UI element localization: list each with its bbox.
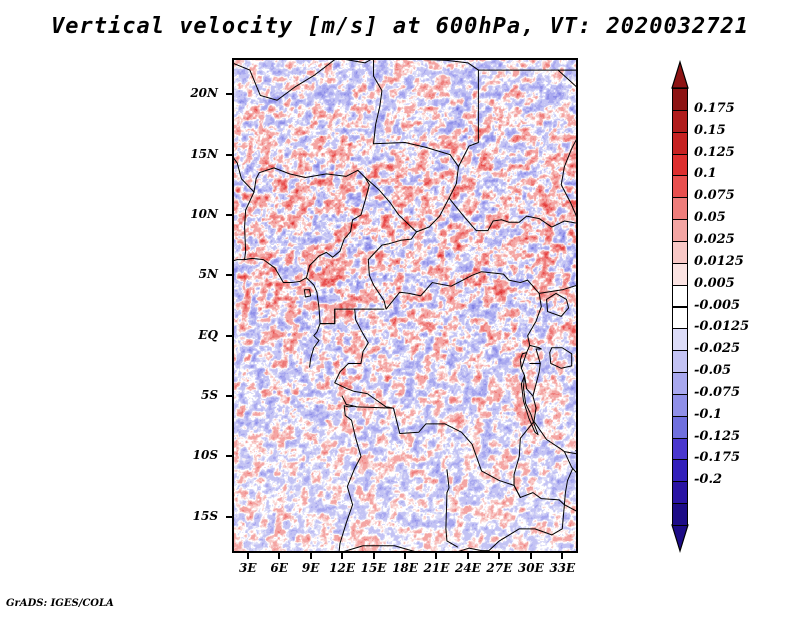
x-axis-tick	[561, 553, 563, 559]
colorbar-segment	[672, 394, 688, 417]
colorbar-label: -0.05	[694, 363, 731, 378]
page-title: Vertical velocity [m/s] at 600hPa, VT: 2…	[0, 14, 800, 39]
x-axis-tick	[404, 553, 406, 559]
y-axis-label: 5S	[172, 388, 218, 402]
y-axis-tick	[226, 154, 232, 156]
colorbar-label: 0.0125	[694, 254, 744, 269]
y-axis-label: 15N	[172, 147, 218, 161]
x-axis-tick	[530, 553, 532, 559]
grads-credit: GrADS: IGES/COLA	[6, 598, 114, 609]
y-axis-label: 5N	[172, 267, 218, 281]
colorbar-segment	[672, 263, 688, 286]
colorbar-label: -0.0125	[694, 319, 749, 334]
colorbar: 0.1750.150.1250.10.0750.050.0250.01250.0…	[664, 60, 794, 560]
y-axis-tick	[226, 93, 232, 95]
colorbar-segment	[672, 481, 688, 504]
colorbar-segment	[672, 154, 688, 177]
colorbar-segment	[672, 175, 688, 198]
x-axis-tick	[278, 553, 280, 559]
colorbar-segment	[672, 88, 688, 111]
y-axis-label: 15S	[172, 509, 218, 523]
colorbar-segment	[672, 285, 688, 308]
x-axis-tick	[498, 553, 500, 559]
y-axis-tick	[226, 455, 232, 457]
x-axis-tick	[247, 553, 249, 559]
colorbar-segment	[672, 416, 688, 439]
colorbar-segment	[672, 110, 688, 133]
x-axis-label: 33E	[542, 561, 582, 575]
colorbar-label: -0.1	[694, 407, 722, 422]
colorbar-label: 0.025	[694, 232, 735, 247]
colorbar-segment	[672, 328, 688, 351]
colorbar-label: 0.075	[694, 188, 735, 203]
y-axis-tick	[226, 274, 232, 276]
colorbar-segment	[672, 197, 688, 220]
y-axis-label: 10N	[172, 207, 218, 221]
colorbar-segment	[672, 132, 688, 155]
map-plot-area	[232, 58, 578, 553]
colorbar-segment	[672, 241, 688, 264]
colorbar-segment	[672, 350, 688, 373]
colorbar-label: 0.005	[694, 276, 735, 291]
colorbar-segment	[672, 372, 688, 395]
x-axis-tick	[310, 553, 312, 559]
y-axis-label: 20N	[172, 86, 218, 100]
y-axis-tick	[226, 395, 232, 397]
colorbar-segment	[672, 307, 688, 330]
colorbar-label: -0.025	[694, 341, 740, 356]
colorbar-label: 0.15	[694, 123, 726, 138]
x-axis-tick	[373, 553, 375, 559]
colorbar-label: 0.175	[694, 101, 735, 116]
country-borders-overlay	[232, 58, 578, 553]
x-axis-tick	[467, 553, 469, 559]
colorbar-label: -0.075	[694, 385, 740, 400]
colorbar-segment	[672, 219, 688, 242]
y-axis-tick	[226, 335, 232, 337]
y-axis-tick	[226, 214, 232, 216]
y-axis-label: EQ	[172, 328, 218, 342]
x-axis-tick	[435, 553, 437, 559]
colorbar-label: -0.125	[694, 429, 740, 444]
colorbar-segment	[672, 503, 688, 526]
colorbar-label: -0.005	[694, 298, 740, 313]
colorbar-label: -0.2	[694, 472, 722, 487]
x-axis-tick	[341, 553, 343, 559]
colorbar-label: 0.1	[694, 166, 717, 181]
y-axis-label: 10S	[172, 448, 218, 462]
colorbar-segment	[672, 438, 688, 461]
y-axis-tick	[226, 516, 232, 518]
colorbar-label: 0.05	[694, 210, 726, 225]
colorbar-label: 0.125	[694, 145, 735, 160]
colorbar-segment	[672, 459, 688, 482]
colorbar-label: -0.175	[694, 450, 740, 465]
